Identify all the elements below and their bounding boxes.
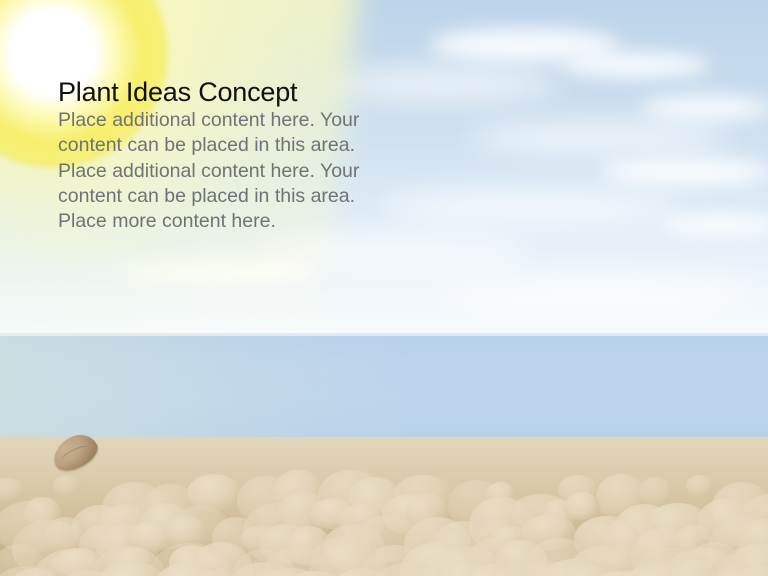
text-block: Plant Ideas Concept Place additional con… — [58, 76, 418, 234]
body-line: content can be placed in this area. — [58, 184, 418, 209]
body-line: content can be placed in this area. — [58, 133, 418, 158]
body-line: Place additional content here. Your — [58, 108, 418, 133]
ground-light — [0, 437, 768, 576]
body-text: Place additional content here. Your cont… — [58, 108, 418, 234]
body-line: Place additional content here. Your — [58, 159, 418, 184]
slide-canvas: Plant Ideas Concept Place additional con… — [0, 0, 768, 576]
body-line: Place more content here. — [58, 209, 418, 234]
page-title: Plant Ideas Concept — [58, 76, 418, 108]
water-sun-tint — [0, 333, 420, 438]
